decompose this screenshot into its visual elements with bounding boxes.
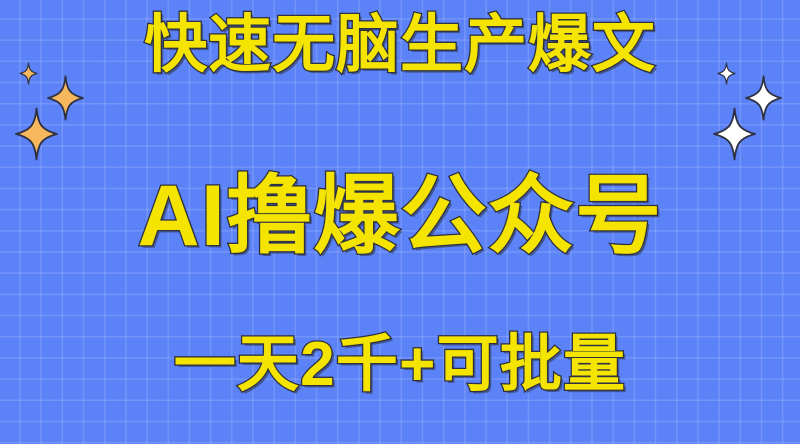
sparkle-icon-right-large	[714, 108, 755, 160]
promo-poster: 快速无脑生产爆文 AI撸爆公众号 一天2千+可批量	[0, 0, 800, 444]
sparkle-icon-left-large	[16, 108, 57, 160]
poster-subtitle: 一天2千+可批量	[0, 328, 800, 402]
poster-title: 快速无脑生产爆文	[0, 8, 800, 82]
poster-headline: AI撸爆公众号	[0, 166, 800, 266]
